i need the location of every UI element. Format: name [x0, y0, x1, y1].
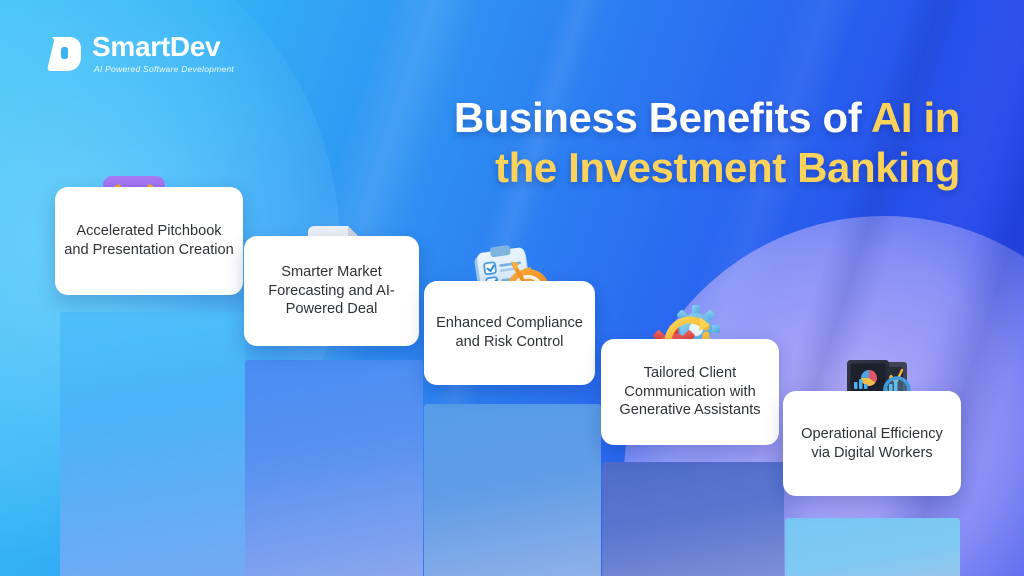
step-card-3-label: Enhanced Compliance and Risk Control — [433, 314, 586, 351]
step-card-1-label: Accelerated Pitchbook and Presentation C… — [64, 222, 234, 259]
step-card-2[interactable]: Smarter Market Forecasting and AI-Powere… — [244, 236, 419, 346]
brand-name: SmartDev — [92, 33, 234, 61]
step-bar-5 — [785, 518, 960, 576]
step-card-5-label: Operational Efficiency via Digital Worke… — [792, 425, 952, 462]
page-title: Business Benefits of AI in the Investmen… — [260, 93, 960, 192]
step-card-3[interactable]: Enhanced Compliance and Risk Control — [424, 281, 595, 385]
step-card-1[interactable]: Accelerated Pitchbook and Presentation C… — [55, 187, 243, 295]
brand-tagline: AI Powered Software Development — [94, 65, 234, 74]
title-accent-part: AI in — [871, 94, 960, 141]
page-title-line-1: Business Benefits of AI in — [260, 93, 960, 143]
infographic-canvas: SmartDev AI Powered Software Development… — [0, 0, 1024, 576]
step-card-4-label: Tailored Client Communication with Gener… — [610, 364, 770, 420]
step-card-4[interactable]: Tailored Client Communication with Gener… — [601, 339, 779, 445]
step-bar-1 — [60, 312, 245, 576]
step-bar-4 — [602, 462, 784, 576]
smartdev-d-mark-icon — [47, 33, 81, 73]
title-accent-line2: the Investment Banking — [495, 144, 960, 191]
step-bar-2 — [245, 360, 423, 576]
brand-logo[interactable]: SmartDev AI Powered Software Development — [47, 33, 234, 74]
step-card-2-label: Smarter Market Forecasting and AI-Powere… — [253, 263, 410, 319]
title-white-part: Business Benefits of — [454, 94, 871, 141]
step-card-5[interactable]: Operational Efficiency via Digital Worke… — [783, 391, 961, 496]
step-bar-3 — [424, 404, 601, 576]
page-title-line-2: the Investment Banking — [260, 143, 960, 193]
